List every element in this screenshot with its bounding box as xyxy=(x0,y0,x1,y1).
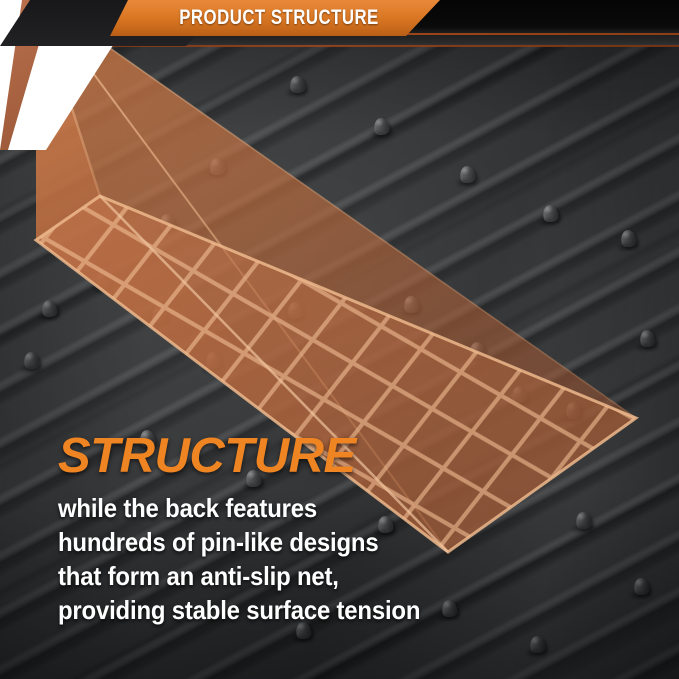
body-line-3: that form an anti-slip net, xyxy=(58,559,454,593)
body-line-1: while the back features xyxy=(58,491,454,525)
body-line-4: providing stable surface tension xyxy=(58,593,454,627)
copy-block: STRUCTURE while the back features hundre… xyxy=(58,432,488,627)
body-line-2: hundreds of pin-like designs xyxy=(58,525,454,559)
banner-label: PRODUCT STRUCTURE xyxy=(143,0,407,36)
headline-structure: STRUCTURE xyxy=(58,432,488,481)
product-structure-image: PRODUCT STRUCTURE STRUCTURE while the ba… xyxy=(0,0,679,679)
